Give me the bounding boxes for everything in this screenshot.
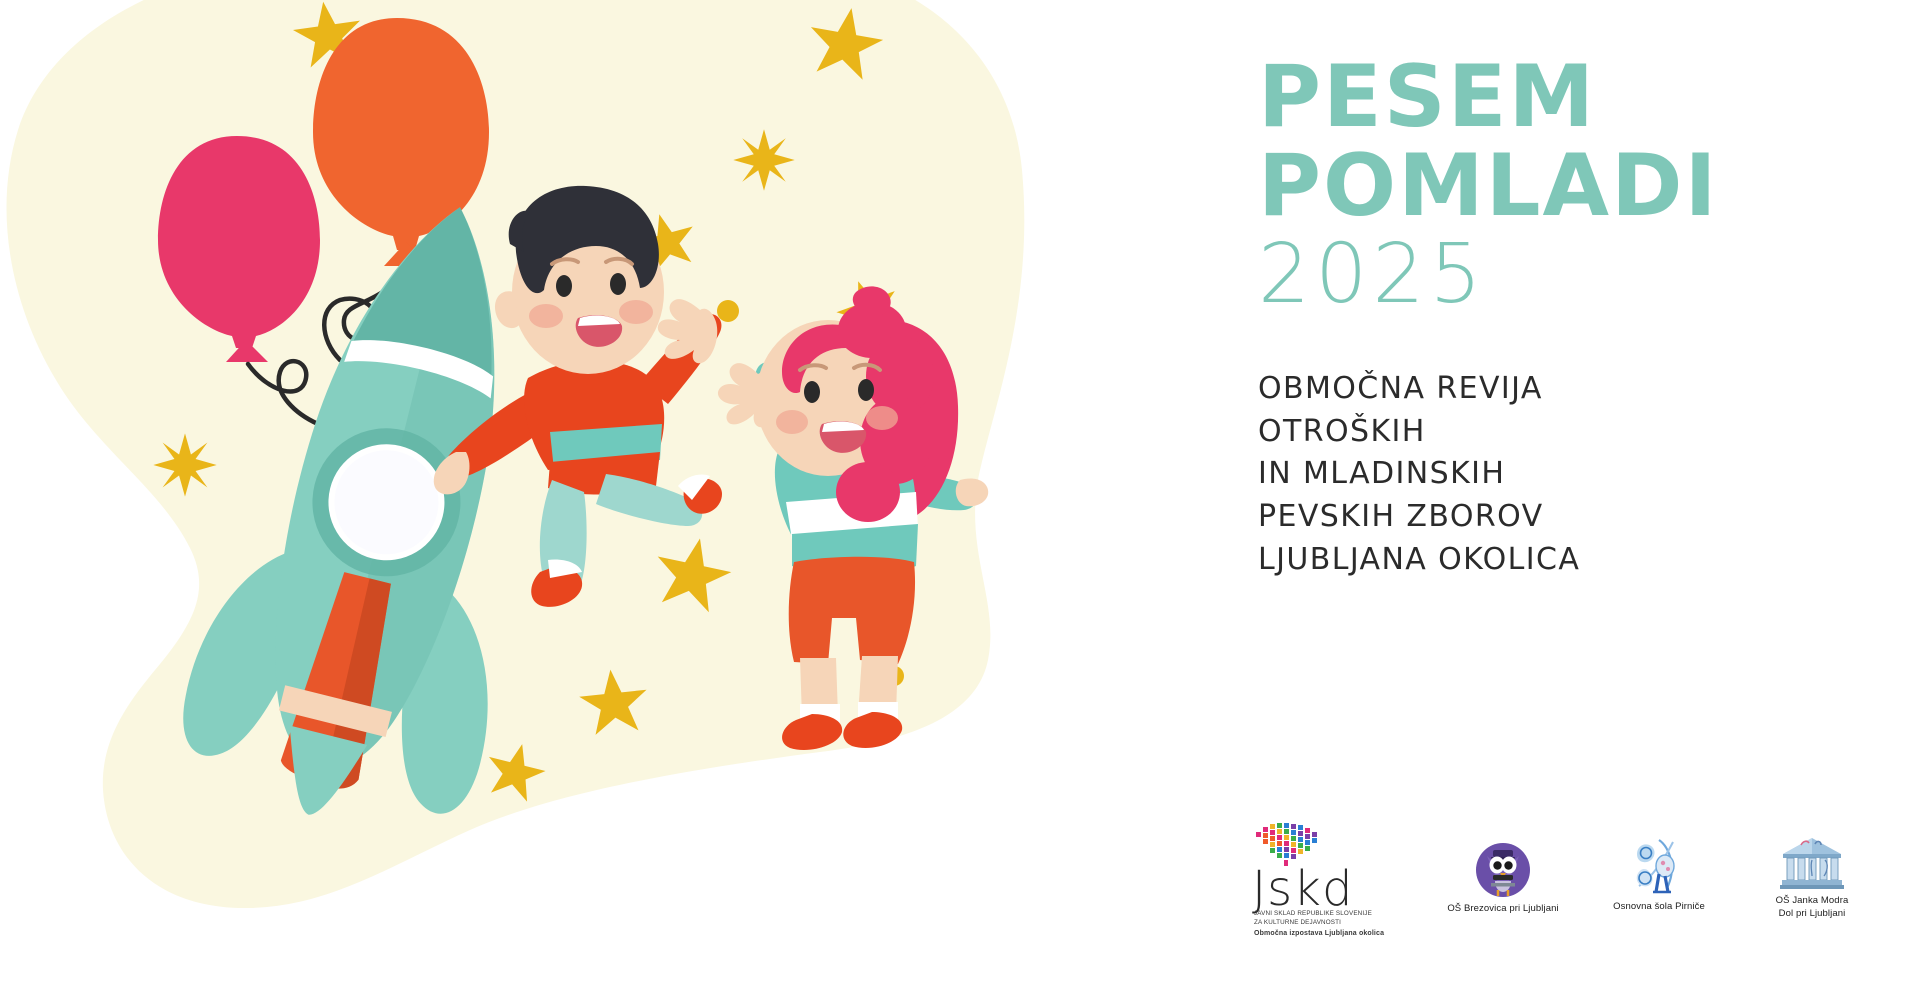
poster-canvas: PESEM POMLADI 2025 OBMOČNA REVIJA OTROŠK…: [0, 0, 1920, 1005]
logo-os-pirnice[interactable]: Osnovna šola Pirniče: [1584, 836, 1734, 913]
jskd-subline-1: JAVNI SKLAD REPUBLIKE SLOVENIJE: [1254, 910, 1382, 919]
title-line-1: PESEM: [1258, 58, 1798, 137]
subtitle-line-2: OTROŠKIH: [1258, 411, 1798, 454]
headline-block: PESEM POMLADI 2025 OBMOČNA REVIJA OTROŠK…: [1258, 58, 1798, 698]
subtitle-block: OBMOČNA REVIJA OTROŠKIH IN MLADINSKIH PE…: [1258, 368, 1798, 581]
logo-caption-pirnice: Osnovna šola Pirniče: [1584, 901, 1734, 913]
abstract-swirl-icon: [1629, 836, 1689, 898]
logo-os-brezovica[interactable]: OŠ Brezovica pri Ljubljani: [1428, 840, 1578, 915]
jskd-subline-2: ZA KULTURNE DEJAVNOSTI: [1254, 919, 1382, 928]
logo-caption-janka-line2: Dol pri Ljubljani: [1732, 908, 1892, 920]
logo-caption-janka-line1: OŠ Janka Modra: [1732, 895, 1892, 907]
jskd-subline-3: Območna izpostava Ljubljana okolica: [1254, 929, 1382, 938]
dot-icon: [717, 300, 739, 322]
sponsor-logo-strip: Jskd JAVNI SKLAD REPUBLIKE SLOVENIJE ZA …: [1232, 840, 1912, 980]
title-line-2: POMLADI: [1258, 147, 1798, 226]
classical-building-icon: [1779, 834, 1845, 892]
star-icon: [153, 433, 216, 496]
title-year: 2025: [1258, 234, 1798, 316]
logo-caption-brezovica: OŠ Brezovica pri Ljubljani: [1428, 903, 1578, 915]
subtitle-line-4: PEVSKIH ZBOROV: [1258, 496, 1798, 539]
star-icon: [733, 129, 794, 190]
logo-jskd[interactable]: Jskd JAVNI SKLAD REPUBLIKE SLOVENIJE ZA …: [1232, 822, 1382, 939]
subtitle-line-5: LJUBLJANA OKOLICA: [1258, 539, 1798, 582]
subtitle-line-3: IN MLADINSKIH: [1258, 453, 1798, 496]
subtitle-line-1: OBMOČNA REVIJA: [1258, 368, 1798, 411]
jskd-wordmark: Jskd: [1252, 868, 1382, 910]
logo-os-janka-modra[interactable]: OŠ Janka Modra Dol pri Ljubljani: [1732, 834, 1892, 920]
owl-circle-icon: [1473, 840, 1533, 900]
